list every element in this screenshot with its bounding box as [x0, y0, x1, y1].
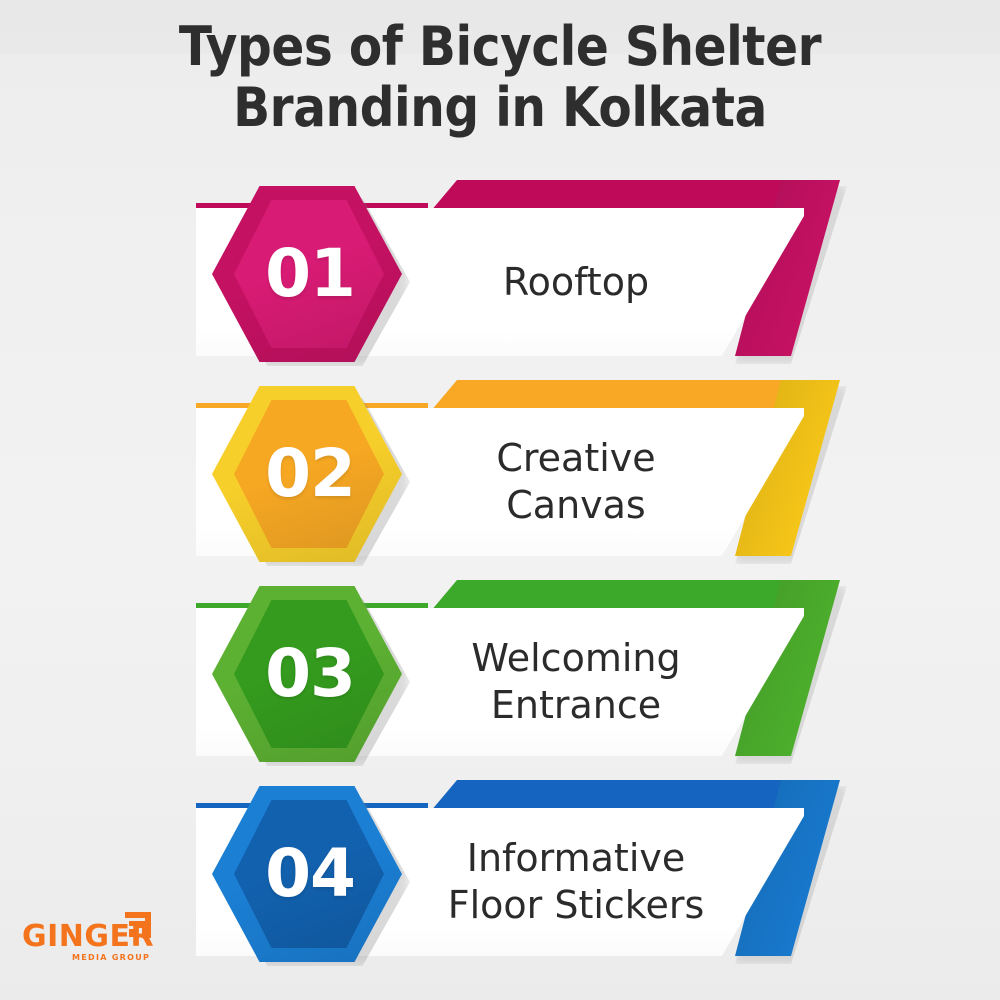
label-line-1: Welcoming [471, 635, 680, 682]
label-line-1: Informative [467, 835, 686, 882]
badge-number: 01 [212, 186, 402, 362]
title-line-2: Branding in Kolkata [50, 77, 950, 138]
label-line-2: Floor Stickers [448, 882, 705, 929]
number-badge[interactable]: 04 [212, 786, 412, 962]
label-text: Rooftop [406, 208, 746, 356]
nested-squares-mark-icon [123, 910, 153, 940]
brand-logo[interactable]: GINGER MEDIA GROUP [22, 918, 202, 980]
label-text: Welcoming Entrance [406, 608, 746, 756]
badge-number: 04 [212, 786, 402, 962]
label-text: Informative Floor Stickers [406, 808, 746, 956]
number-badge[interactable]: 01 [212, 186, 412, 362]
page-title: Types of Bicycle Shelter Branding in Kol… [0, 16, 1000, 138]
label-line-2: Canvas [506, 482, 645, 529]
logo-tagline: MEDIA GROUP [72, 954, 150, 962]
list-item[interactable]: Creative Canvas 02 [0, 376, 1000, 566]
title-line-1: Types of Bicycle Shelter [50, 16, 950, 77]
infographic-poster: Types of Bicycle Shelter Branding in Kol… [0, 0, 1000, 1000]
number-badge[interactable]: 02 [212, 386, 412, 562]
number-badge[interactable]: 03 [212, 586, 412, 762]
list-item[interactable]: Rooftop 01 [0, 176, 1000, 366]
badge-number: 03 [212, 586, 402, 762]
badge-number: 02 [212, 386, 402, 562]
label-line-2: Entrance [491, 682, 661, 729]
label-text: Creative Canvas [406, 408, 746, 556]
list-item[interactable]: Welcoming Entrance 03 [0, 576, 1000, 766]
label-line-1: Rooftop [503, 259, 649, 306]
label-line-1: Creative [496, 435, 655, 482]
